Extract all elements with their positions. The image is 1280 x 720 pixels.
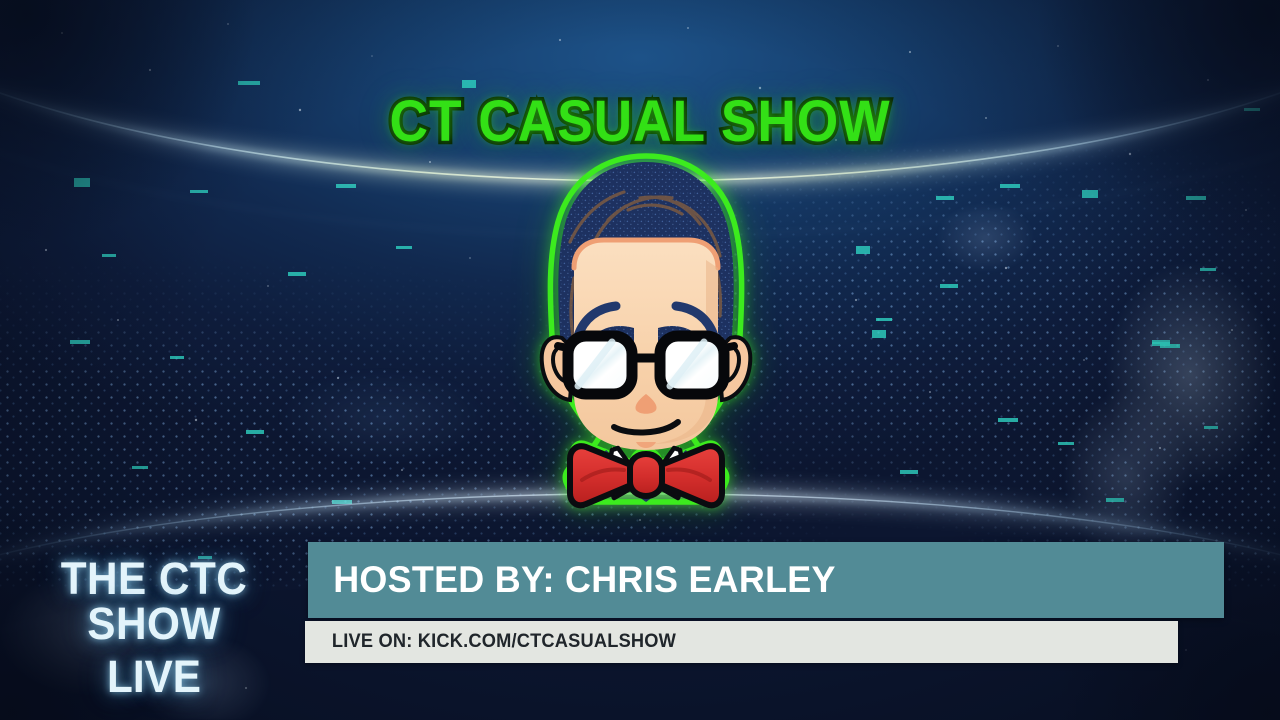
live-banner-text: LIVE ON: KICK.COM/CTCASUALSHOW [305,631,676,653]
live-banner: LIVE ON: KICK.COM/CTCASUALSHOW [305,621,1178,663]
brand-lockup: THE CTC SHOW LIVE [8,556,300,699]
stream-overlay-stage: CT CASUAL SHOW [0,0,1280,720]
bowtie-icon [570,446,722,505]
brand-line-1: THE CTC SHOW [17,556,291,646]
brand-line-2: LIVE [17,654,291,699]
avatar [500,150,792,525]
host-banner: HOSTED BY: CHRIS EARLEY [308,542,1224,618]
host-banner-text: HOSTED BY: CHRIS EARLEY [308,559,836,601]
show-title: CT CASUAL SHOW [51,88,1229,155]
